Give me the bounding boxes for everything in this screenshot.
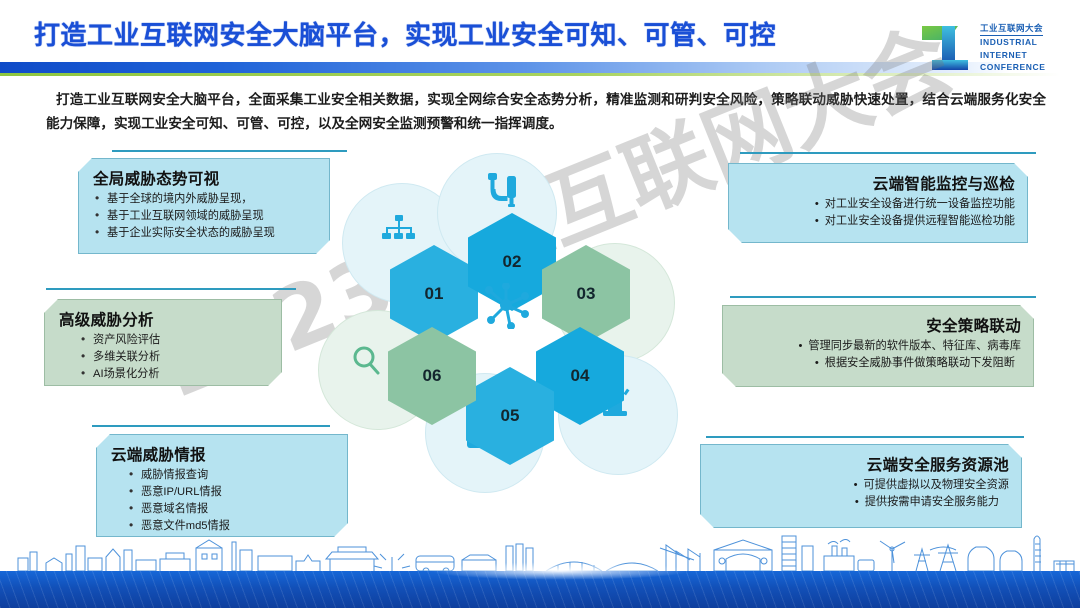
callout-global-threat-visibility[interactable]: 全局威胁态势可视 基于全球的境内外威胁呈现， 基于工业互联网领域的威胁呈现 基于… <box>78 158 330 254</box>
list-item: 恶意域名情报 <box>127 501 335 518</box>
callout-items: •可提供虚拟以及物理安全资源 •提供按需申请安全服务能力 <box>715 477 1009 511</box>
list-item: •对工业安全设备提供远程智能巡检功能 <box>743 213 1015 230</box>
callout-cloud-threat-intelligence[interactable]: 云端威胁情报 威胁情报查询 恶意IP/URL情报 恶意域名情报 恶意文件md5情… <box>96 434 348 537</box>
footer-skyline <box>0 528 1080 608</box>
org-chart-icon <box>382 215 416 243</box>
callout-title: 安全策略联动 <box>737 314 1021 336</box>
rule-callout-1 <box>112 150 347 152</box>
callout-title: 云端安全服务资源池 <box>715 453 1009 475</box>
callout-items: 基于全球的境内外威胁呈现， 基于工业互联网领域的威胁呈现 基于企业实际安全状态的… <box>93 191 317 242</box>
callout-cloud-monitoring-inspection[interactable]: 云端智能监控与巡检 •对工业安全设备进行统一设备监控功能 •对工业安全设备提供远… <box>728 163 1028 243</box>
callout-items: •对工业安全设备进行统一设备监控功能 •对工业安全设备提供远程智能巡检功能 <box>743 196 1015 230</box>
magnifier-icon <box>350 345 382 379</box>
logo-en-line1: INDUSTRIAL <box>980 36 1072 49</box>
list-item: •提供按需申请安全服务能力 <box>715 494 1009 511</box>
list-item: •对工业安全设备进行统一设备监控功能 <box>743 196 1015 213</box>
intro-paragraph: 打造工业互联网安全大脑平台，全面采集工业安全相关数据，实现全网综合安全态势分析，… <box>46 88 1046 136</box>
list-item: 恶意IP/URL情报 <box>127 484 335 501</box>
list-item: 基于工业互联网领域的威胁呈现 <box>93 208 317 225</box>
list-item: 威胁情报查询 <box>127 467 335 484</box>
logo-en-line2: INTERNET <box>980 49 1072 62</box>
logo-mark-icon <box>918 20 974 76</box>
logo-cn-text: 工业互联网大会 <box>980 22 1043 36</box>
callout-items: 资产风险评估 多维关联分析 AI场景化分析 <box>59 332 269 383</box>
header-blue-bar <box>0 62 1010 73</box>
callout-title: 云端智能监控与巡检 <box>743 172 1015 194</box>
callout-items: •管理同步最新的软件版本、特征库、病毒库 •根据安全威胁事件做策略联动下发阻断 <box>737 338 1021 372</box>
logo-en-line3: CONFERENCE <box>980 61 1072 74</box>
footer-glow <box>430 562 690 580</box>
rule-callout-5 <box>730 296 1036 298</box>
network-node-icon <box>480 283 532 334</box>
slide-root: 打造工业互联网安全大脑平台，实现工业安全可知、可管、可控 工业互联网大会 <box>0 0 1080 608</box>
conference-logo: 工业互联网大会 INDUSTRIAL INTERNET CONFERENCE <box>918 18 1068 80</box>
rule-callout-2 <box>46 288 296 290</box>
callout-items: 威胁情报查询 恶意IP/URL情报 恶意域名情报 恶意文件md5情报 <box>111 467 335 535</box>
page-title: 打造工业互联网安全大脑平台，实现工业安全可知、可管、可控 <box>34 15 776 52</box>
callout-title: 高级威胁分析 <box>59 308 269 330</box>
list-item: •根据安全威胁事件做策略联动下发阻断 <box>737 355 1021 372</box>
callout-security-policy-linkage[interactable]: 安全策略联动 •管理同步最新的软件版本、特征库、病毒库 •根据安全威胁事件做策略… <box>722 305 1034 387</box>
list-item: 资产风险评估 <box>79 332 269 349</box>
list-item: •可提供虚拟以及物理安全资源 <box>715 477 1009 494</box>
usb-cable-icon <box>485 173 519 207</box>
list-item: 基于全球的境内外威胁呈现， <box>93 191 317 208</box>
list-item: •管理同步最新的软件版本、特征库、病毒库 <box>737 338 1021 355</box>
rule-callout-3 <box>92 425 330 427</box>
rule-callout-4 <box>740 152 1036 154</box>
callout-advanced-threat-analysis[interactable]: 高级威胁分析 资产风险评估 多维关联分析 AI场景化分析 <box>44 299 282 386</box>
logo-text: 工业互联网大会 INDUSTRIAL INTERNET CONFERENCE <box>980 18 1072 74</box>
list-item: AI场景化分析 <box>79 366 269 383</box>
callout-title: 全局威胁态势可视 <box>93 167 317 189</box>
list-item: 基于企业实际安全状态的威胁呈现 <box>93 225 317 242</box>
rule-callout-6 <box>706 436 1024 438</box>
header-green-bar <box>0 73 1060 76</box>
callout-cloud-security-service-pool[interactable]: 云端安全服务资源池 •可提供虚拟以及物理安全资源 •提供按需申请安全服务能力 <box>700 444 1022 528</box>
hexagon-cluster: 01 02 03 04 05 06 <box>330 155 710 535</box>
callout-title: 云端威胁情报 <box>111 443 335 465</box>
list-item: 多维关联分析 <box>79 349 269 366</box>
